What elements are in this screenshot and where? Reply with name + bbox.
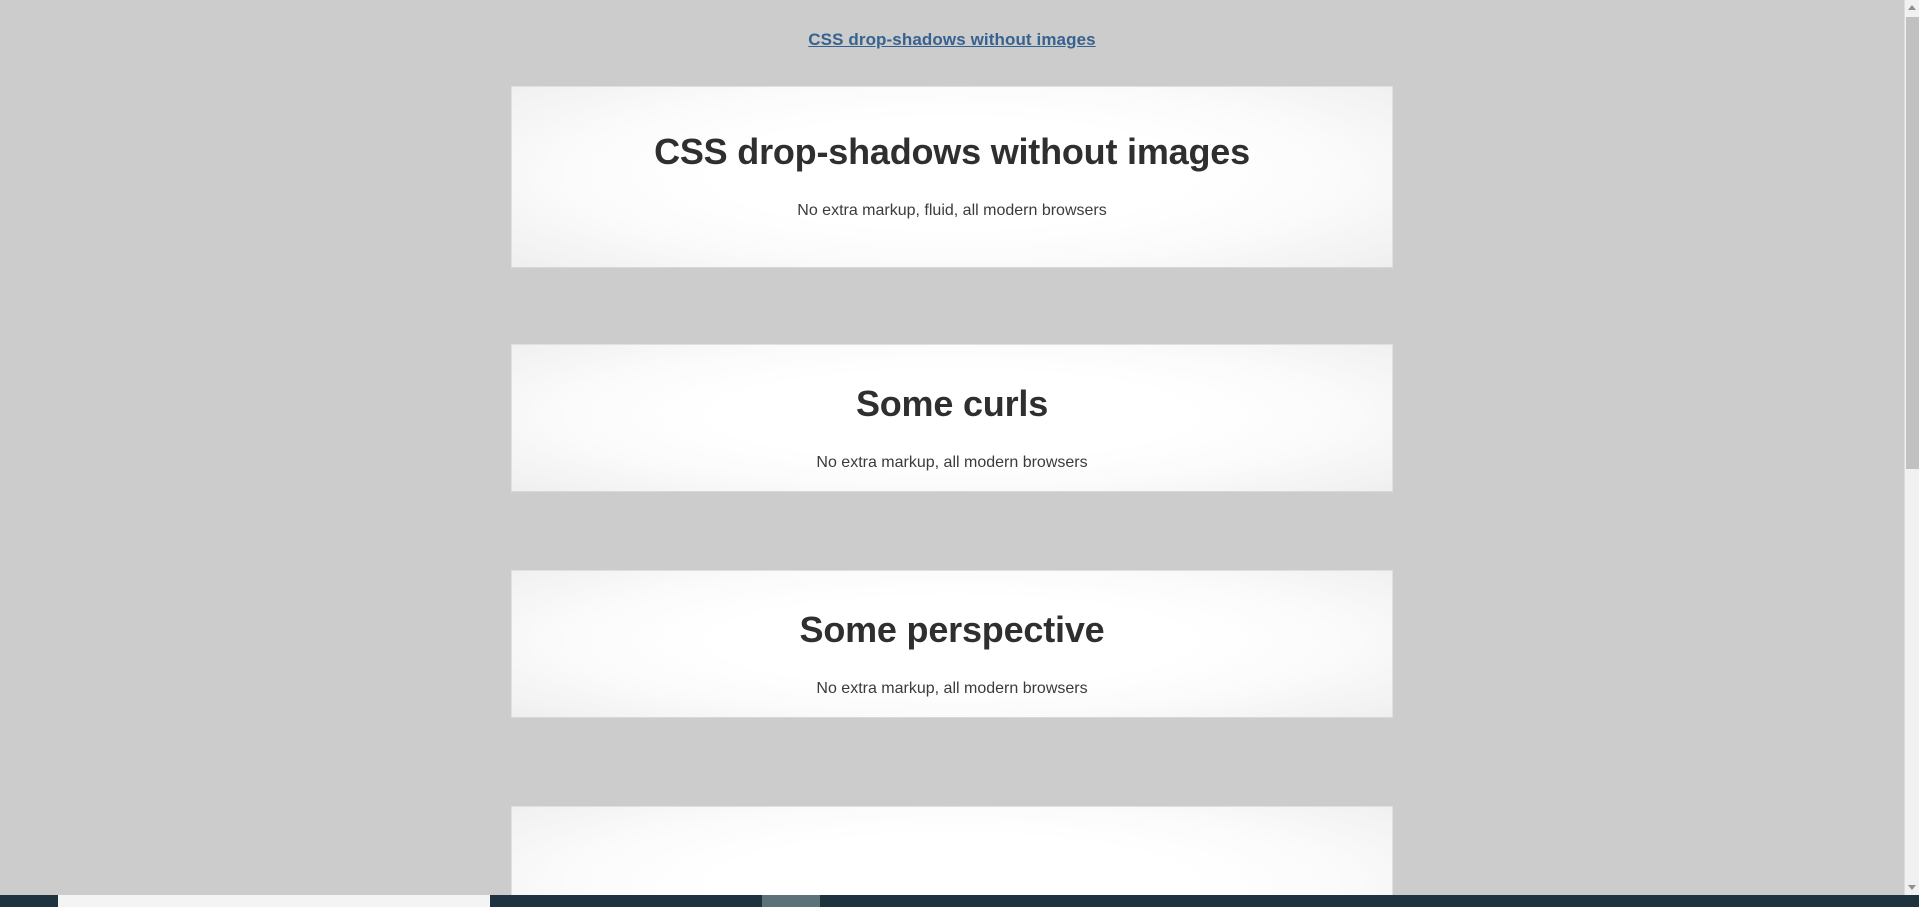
browser-viewport: CSS drop-shadows without images CSS drop…: [0, 0, 1904, 895]
card-curled-shadow-subtitle: No extra markup, all modern browsers: [542, 454, 1362, 472]
card-perspective-shadow: Some perspective No extra markup, all mo…: [511, 570, 1393, 718]
card-curled-shadow-heading: Some curls: [542, 381, 1362, 426]
taskbar-segment-left: [0, 895, 58, 907]
card-lifted-corners-inner: CSS drop-shadows without images No extra…: [512, 87, 1392, 260]
taskbar-segment-mid: [490, 895, 762, 907]
card-next-partial: [511, 806, 1393, 895]
card-lifted-corners: CSS drop-shadows without images No extra…: [511, 86, 1393, 268]
card-perspective-shadow-subtitle: No extra markup, all modern browsers: [542, 680, 1362, 698]
taskbar-segment-right: [820, 895, 1919, 907]
scroll-down-button[interactable]: [1905, 880, 1919, 895]
taskbar-window-strip[interactable]: [58, 895, 490, 907]
taskbar-active-item[interactable]: [762, 895, 820, 907]
card-perspective-shadow-inner: Some perspective No extra markup, all mo…: [512, 571, 1392, 738]
card-perspective-shadow-heading: Some perspective: [542, 607, 1362, 652]
vertical-scrollbar[interactable]: [1904, 0, 1919, 895]
card-curled-shadow-inner: Some curls No extra markup, all modern b…: [512, 345, 1392, 512]
card-lifted-corners-heading: CSS drop-shadows without images: [542, 129, 1362, 174]
page-content: CSS drop-shadows without images CSS drop…: [0, 0, 1904, 895]
card-curled-shadow: Some curls No extra markup, all modern b…: [511, 344, 1393, 492]
card-next-partial-inner: [512, 807, 1392, 895]
scrollbar-thumb[interactable]: [1906, 17, 1919, 469]
scroll-up-arrow-icon: [1908, 5, 1916, 10]
permalink-css-drop-shadows[interactable]: CSS drop-shadows without images: [808, 30, 1095, 49]
scroll-down-arrow-icon: [1908, 885, 1916, 890]
scroll-up-button[interactable]: [1905, 0, 1919, 15]
permalink-container: CSS drop-shadows without images: [0, 30, 1904, 64]
card-lifted-corners-subtitle: No extra markup, fluid, all modern brows…: [542, 202, 1362, 220]
os-taskbar[interactable]: [0, 895, 1919, 907]
